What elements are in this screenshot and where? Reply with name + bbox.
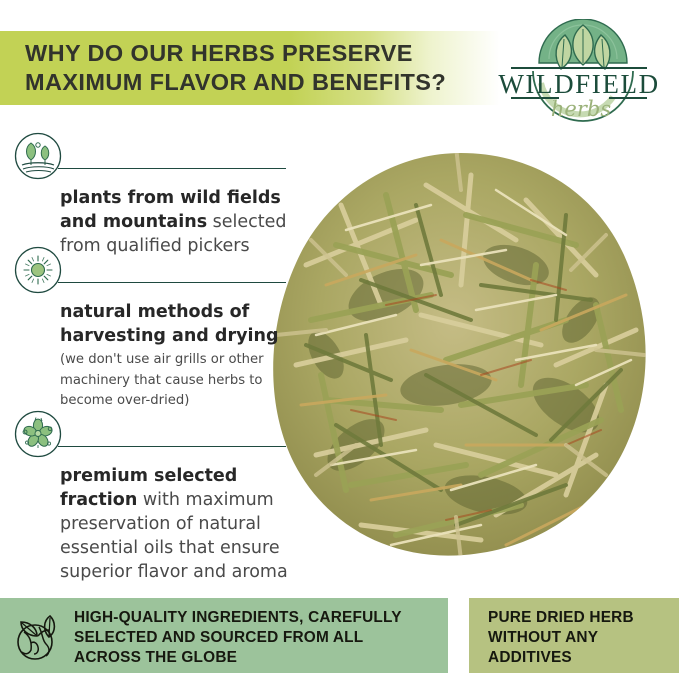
banner-right-label: PURE DRIED HERB WITHOUT ANY ADDITIVES [488, 608, 673, 668]
feature-text: premium selected fraction with maximum p… [60, 460, 289, 584]
herb-pile-graphic [266, 145, 656, 565]
logo-emblem-icon: WILDFIELD herbs [487, 19, 667, 124]
sun-drying-icon [14, 246, 62, 294]
banner-pure-dried-herb: PURE DRIED HERB WITHOUT ANY ADDITIVES [469, 598, 679, 673]
feature-divider [58, 168, 286, 169]
logo-brand-tagline: herbs [551, 97, 611, 121]
feature-item-natural-drying: natural methods of harvesting and drying… [14, 246, 289, 410]
feature-item-wild-fields: plants from wild fields and mountains se… [14, 132, 289, 258]
banner-high-quality-ingredients: HIGH-QUALITY INGREDIENTS, CAREFULLY SELE… [0, 598, 448, 673]
feature-divider [58, 282, 286, 283]
feature-divider [58, 446, 286, 447]
flower-fraction-icon [14, 410, 62, 458]
brand-logo: WILDFIELD herbs [487, 19, 667, 124]
feature-header [14, 410, 289, 460]
logo-brand-name: WILDFIELD [498, 69, 659, 99]
feature-text: natural methods of harvesting and drying… [60, 296, 289, 410]
feature-item-premium-fraction: premium selected fraction with maximum p… [14, 410, 289, 584]
globe-with-leaves-icon [12, 610, 64, 662]
feature-header [14, 132, 289, 182]
dried-herb-pile-image [266, 145, 656, 565]
feature-note-text: (we don't use air grills or other machin… [60, 352, 264, 408]
feature-header [14, 246, 289, 296]
wild-field-plants-icon [14, 132, 62, 180]
feature-lead-text: natural methods of harvesting and drying [60, 302, 278, 346]
page-title: WHY DO OUR HERBS PRESERVE MAXIMUM FLAVOR… [25, 39, 485, 97]
banner-left-label: HIGH-QUALITY INGREDIENTS, CAREFULLY SELE… [74, 608, 439, 668]
